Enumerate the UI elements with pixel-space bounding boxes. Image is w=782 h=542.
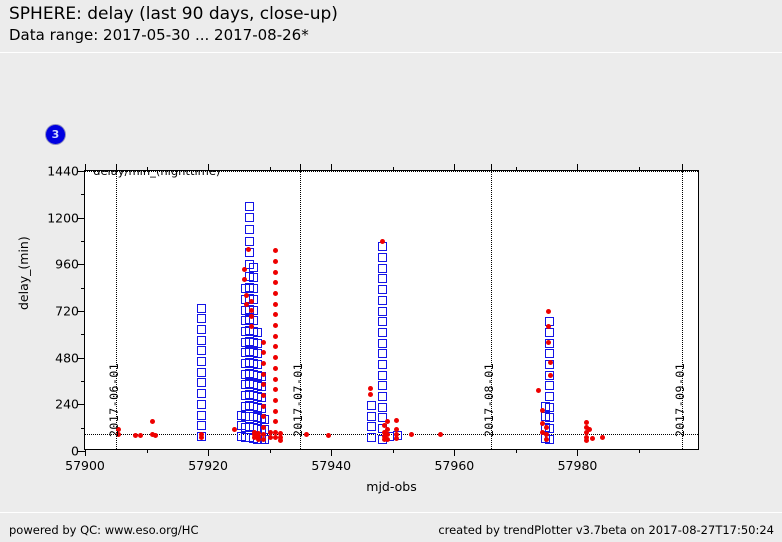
data-point-dot [273,387,278,392]
y-tick [78,451,85,452]
data-point-square [197,389,206,398]
data-point-dot [273,377,278,382]
data-point-square [545,349,554,358]
data-point-square [197,421,206,430]
data-point-dot [261,437,266,442]
data-point-dot [544,437,549,442]
data-point-dot [273,344,278,349]
data-point-dot [261,350,266,355]
top-tick [454,164,455,171]
data-point-dot [273,334,278,339]
data-point-square [378,296,387,305]
x-tick-label: 57980 [558,458,598,473]
x-tick-minor [516,449,517,453]
data-point-dot [540,408,545,413]
top-tick-minor [639,167,640,171]
x-tick-minor [147,449,148,453]
data-point-square [249,273,258,282]
x-axis-title: mjd-obs [85,479,698,494]
data-point-square [197,400,206,409]
top-tick [577,164,578,171]
data-point-dot [246,247,251,252]
data-point-square [378,403,387,412]
data-point-square [378,242,387,251]
data-point-dot [273,270,278,275]
x-tick [454,449,455,456]
data-point-dot [368,386,373,391]
data-point-square [378,264,387,273]
y-tick-label: 240 [27,397,79,412]
data-point-dot [394,418,399,423]
x-tick-label: 57900 [65,458,105,473]
data-point-square [249,284,258,293]
data-point-dot [138,433,143,438]
x-tick-minor [639,449,640,453]
data-point-dot [273,259,278,264]
footer-credit-left: powered by QC: www.eso.org/HC [9,523,198,537]
data-point-dot [380,239,385,244]
data-point-square [378,371,387,380]
y-tick [78,311,85,312]
data-point-dot [273,355,278,360]
threshold-annotation: delay/min_(nighttime) [93,171,220,178]
data-point-dot [273,312,278,317]
data-point-square [253,328,262,337]
data-point-dot [273,398,278,403]
x-tick-minor [393,449,394,453]
top-date-tick [116,164,117,171]
data-point-dot [261,340,266,345]
y-tick-label: 960 [27,257,79,272]
top-date-label: 2017-09-01 [673,363,687,437]
top-tick [208,164,209,171]
data-point-square [378,392,387,401]
data-point-square [367,412,376,421]
y-tick-label: 1440 [27,164,79,179]
x-tick-label: 57920 [188,458,228,473]
data-point-square [378,360,387,369]
data-point-dot [600,435,605,440]
data-point-dot [546,340,551,345]
data-point-square [197,357,206,366]
top-date-tick [682,164,683,171]
data-point-square [378,253,387,262]
top-tick-minor [270,167,271,171]
top-tick [331,164,332,171]
data-point-square [249,263,258,272]
data-point-dot [244,302,249,307]
data-point-square [245,213,254,222]
data-point-dot [261,404,266,409]
x-tick [208,449,209,456]
data-point-square [197,336,206,345]
data-point-dot [587,427,592,432]
data-point-square [245,225,254,234]
data-point-dot [544,425,549,430]
data-point-dot [273,323,278,328]
data-point-square [378,339,387,348]
y-tick [78,218,85,219]
data-point-square [197,378,206,387]
data-point-square [245,202,254,211]
data-point-dot [242,267,247,272]
footer-credit-right: created by trendPlotter v3.7beta on 2017… [438,523,774,537]
data-point-dot [409,432,414,437]
y-tick-minor [81,288,85,289]
data-point-square [197,304,206,313]
data-point-square [378,381,387,390]
data-point-dot [153,433,158,438]
data-point-dot [394,436,399,441]
data-point-square [378,349,387,358]
footer-band: powered by QC: www.eso.org/HC created by… [0,512,782,542]
top-tick-minor [393,167,394,171]
data-point-square [197,314,206,323]
data-point-dot [368,392,373,397]
top-tick-minor [147,167,148,171]
y-tick-minor [81,334,85,335]
y-tick [78,171,85,172]
x-tick [331,449,332,456]
data-point-square [545,403,554,412]
data-point-dot [548,373,553,378]
data-point-dot [249,308,254,313]
data-point-square [545,328,554,337]
plot-axes: delay/min_(nighttime) mjd-obs 0240480720… [84,170,699,450]
data-point-dot [273,366,278,371]
data-point-square [378,317,387,326]
top-date-tick [300,164,301,171]
data-point-square [367,422,376,431]
data-point-dot [273,291,278,296]
y-tick-label: 480 [27,350,79,365]
top-date-label: 2017-07-01 [291,363,305,437]
y-tick [78,404,85,405]
x-tick [577,449,578,456]
y-tick-minor [81,381,85,382]
y-tick-label: 720 [27,304,79,319]
data-point-square [197,368,206,377]
data-point-square [197,411,206,420]
data-point-dot [273,409,278,414]
data-point-square [545,392,554,401]
data-point-square [545,413,554,422]
data-point-square [378,307,387,316]
data-point-dot [273,280,278,285]
chart-container: delay_(min) delay/min_(nighttime) mjd-ob… [0,0,782,512]
data-point-dot [261,361,266,366]
y-tick-label: 0 [27,444,79,459]
data-point-square [245,237,254,246]
x-tick-label: 57940 [311,458,351,473]
top-date-label: 2017-08-01 [482,363,496,437]
x-tick-label: 57960 [434,458,474,473]
data-point-square [378,274,387,283]
data-point-square [545,381,554,390]
data-point-dot [278,438,283,443]
data-point-square [197,346,206,355]
data-point-square [367,401,376,410]
y-tick [78,264,85,265]
data-point-dot [438,432,443,437]
x-tick-minor [270,449,271,453]
data-point-dot [584,438,589,443]
data-point-dot [385,437,390,442]
data-point-dot [326,433,331,438]
data-point-dot [150,419,155,424]
data-point-dot [261,372,266,377]
data-point-dot [273,248,278,253]
y-tick-minor [81,241,85,242]
data-point-dot [385,419,390,424]
data-point-dot [242,277,247,282]
y-tick [78,358,85,359]
y-tick-minor [81,194,85,195]
data-point-dot [590,436,595,441]
data-point-dot [536,388,541,393]
data-point-square [197,325,206,334]
data-point-dot [249,324,254,329]
top-tick-minor [516,167,517,171]
data-point-dot [548,360,553,365]
y-tick-label: 1200 [27,210,79,225]
top-tick [85,164,86,171]
y-tick-minor [81,428,85,429]
top-date-label: 2017-06-01 [107,363,121,437]
data-point-dot [546,309,551,314]
y-axis-title: delay_(min) [16,236,31,310]
data-point-square [378,328,387,337]
data-point-dot [273,302,278,307]
plot-inner: delay/min_(nighttime) [85,171,698,449]
x-tick [85,449,86,456]
data-point-square [367,433,376,442]
data-point-dot [244,293,249,298]
top-date-tick [491,164,492,171]
data-point-dot [249,299,254,304]
data-point-dot [232,427,237,432]
footer-divider [0,512,782,513]
data-point-square [378,285,387,294]
data-point-dot [273,419,278,424]
